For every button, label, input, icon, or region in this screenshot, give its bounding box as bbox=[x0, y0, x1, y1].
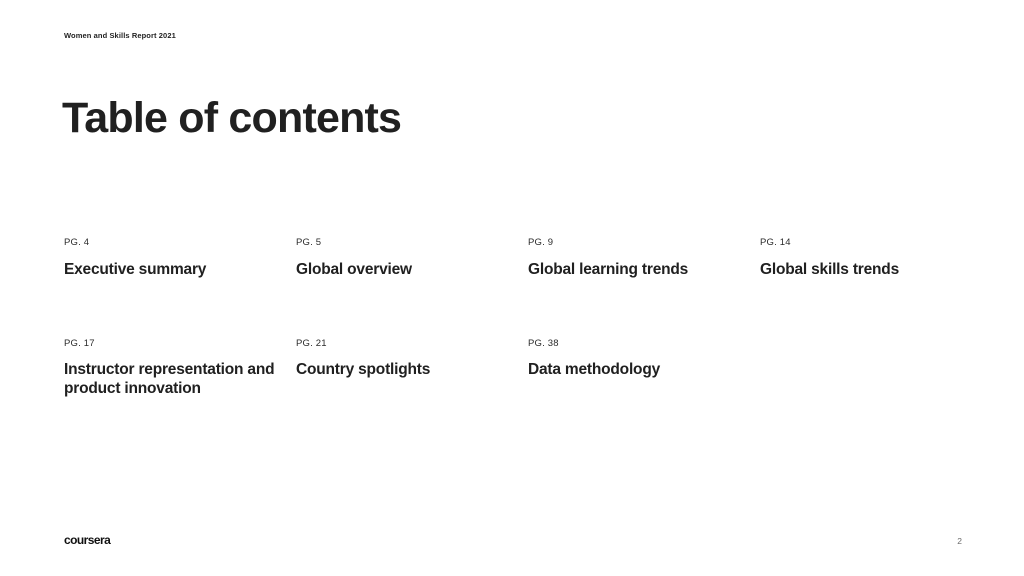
toc-entry-page-label: PG. 17 bbox=[64, 339, 282, 349]
toc-entry-title: Global learning trends bbox=[528, 261, 746, 279]
toc-entry-global-skills-trends[interactable]: PG. 14 Global skills trends bbox=[760, 238, 992, 279]
page-number: 2 bbox=[957, 537, 962, 546]
toc-entry-title: Global overview bbox=[296, 261, 514, 279]
toc-entry-page-label: PG. 9 bbox=[528, 238, 746, 248]
toc-entry-global-overview[interactable]: PG. 5 Global overview bbox=[296, 238, 528, 279]
toc-row: PG. 17 Instructor representation and pro… bbox=[64, 339, 964, 398]
toc-entry-data-methodology[interactable]: PG. 38 Data methodology bbox=[528, 339, 760, 380]
toc-entry-title: Country spotlights bbox=[296, 361, 514, 379]
toc-entry-instructor-representation[interactable]: PG. 17 Instructor representation and pro… bbox=[64, 339, 296, 398]
toc-row: PG. 4 Executive summary PG. 5 Global ove… bbox=[64, 238, 964, 279]
table-of-contents: PG. 4 Executive summary PG. 5 Global ove… bbox=[64, 238, 964, 398]
toc-entry-page-label: PG. 4 bbox=[64, 238, 282, 248]
toc-entry-country-spotlights[interactable]: PG. 21 Country spotlights bbox=[296, 339, 528, 380]
toc-entry-page-label: PG. 21 bbox=[296, 339, 514, 349]
toc-entry-title: Instructor representation and product in… bbox=[64, 361, 282, 398]
toc-entry-executive-summary[interactable]: PG. 4 Executive summary bbox=[64, 238, 296, 279]
toc-entry-title: Data methodology bbox=[528, 361, 746, 379]
toc-entry-page-label: PG. 5 bbox=[296, 238, 514, 248]
toc-entry-title: Executive summary bbox=[64, 261, 282, 279]
slide-canvas: Women and Skills Report 2021 Table of co… bbox=[0, 0, 1024, 576]
running-header: Women and Skills Report 2021 bbox=[64, 31, 176, 40]
toc-entry-global-learning-trends[interactable]: PG. 9 Global learning trends bbox=[528, 238, 760, 279]
page-title: Table of contents bbox=[62, 94, 401, 142]
toc-entry-title: Global skills trends bbox=[760, 261, 978, 279]
toc-entry-page-label: PG. 14 bbox=[760, 238, 978, 248]
coursera-logo: coursera bbox=[64, 534, 110, 546]
toc-entry-page-label: PG. 38 bbox=[528, 339, 746, 349]
